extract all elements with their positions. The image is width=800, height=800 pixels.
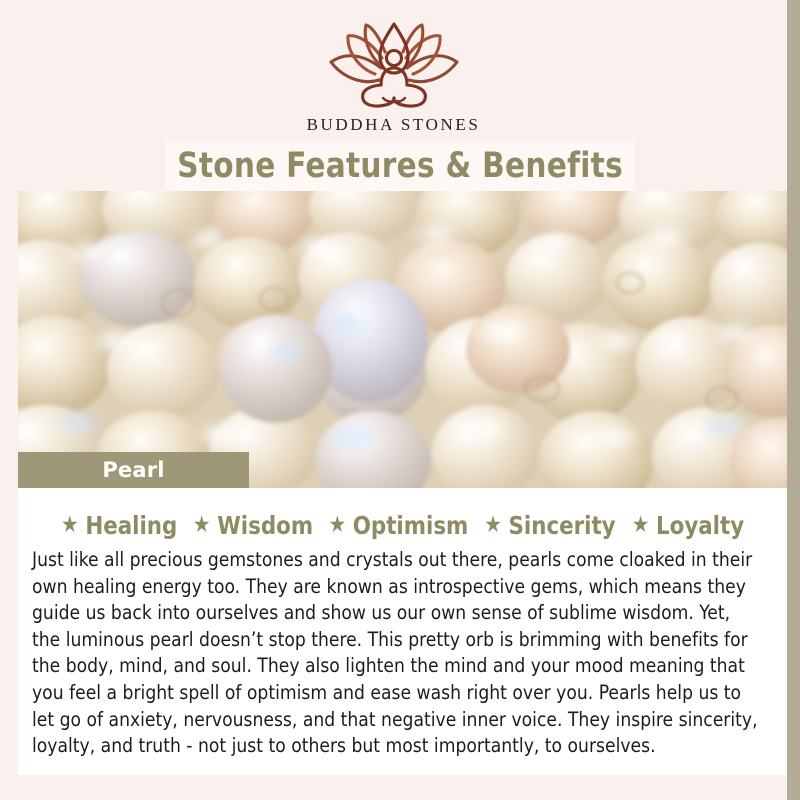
benefit-label: Wisdom (217, 511, 313, 540)
star-icon: ★ (484, 514, 502, 537)
benefits-row: ★ Healing ★ Wisdom ★ Optimism ★ Sincerit… (18, 511, 787, 540)
star-icon: ★ (631, 514, 649, 537)
page-title: Stone Features & Benefits (177, 146, 623, 186)
pearl-photo (18, 191, 787, 488)
benefit-loyalty: ★ Loyalty (623, 511, 744, 540)
title-banner: Stone Features & Benefits (165, 141, 635, 191)
page-background-bottom (0, 775, 787, 800)
star-icon: ★ (328, 514, 346, 537)
infographic-page: BUDDHA STONES Stone Features & Benefits (0, 0, 800, 800)
benefit-label: Healing (86, 511, 178, 540)
star-icon: ★ (192, 514, 210, 537)
description-text: Just like all precious gemstones and cry… (32, 547, 762, 760)
description-card: ★ Healing ★ Wisdom ★ Optimism ★ Sincerit… (18, 488, 787, 775)
stone-name-label: Pearl (102, 458, 164, 482)
star-icon: ★ (61, 514, 79, 537)
lotus-meditation-icon (319, 18, 469, 113)
stone-name-bar: Pearl (18, 452, 249, 488)
benefit-label: Optimism (353, 511, 469, 540)
benefit-optimism: ★ Optimism (320, 511, 468, 540)
brand-wordmark: BUDDHA STONES (307, 115, 481, 135)
benefit-healing: ★ Healing (61, 511, 177, 540)
benefit-label: Sincerity (509, 511, 616, 540)
benefit-label: Loyalty (656, 511, 744, 540)
benefit-wisdom: ★ Wisdom (184, 511, 313, 540)
brand-header: BUDDHA STONES (0, 0, 787, 140)
benefit-sincerity: ★ Sincerity (476, 511, 616, 540)
